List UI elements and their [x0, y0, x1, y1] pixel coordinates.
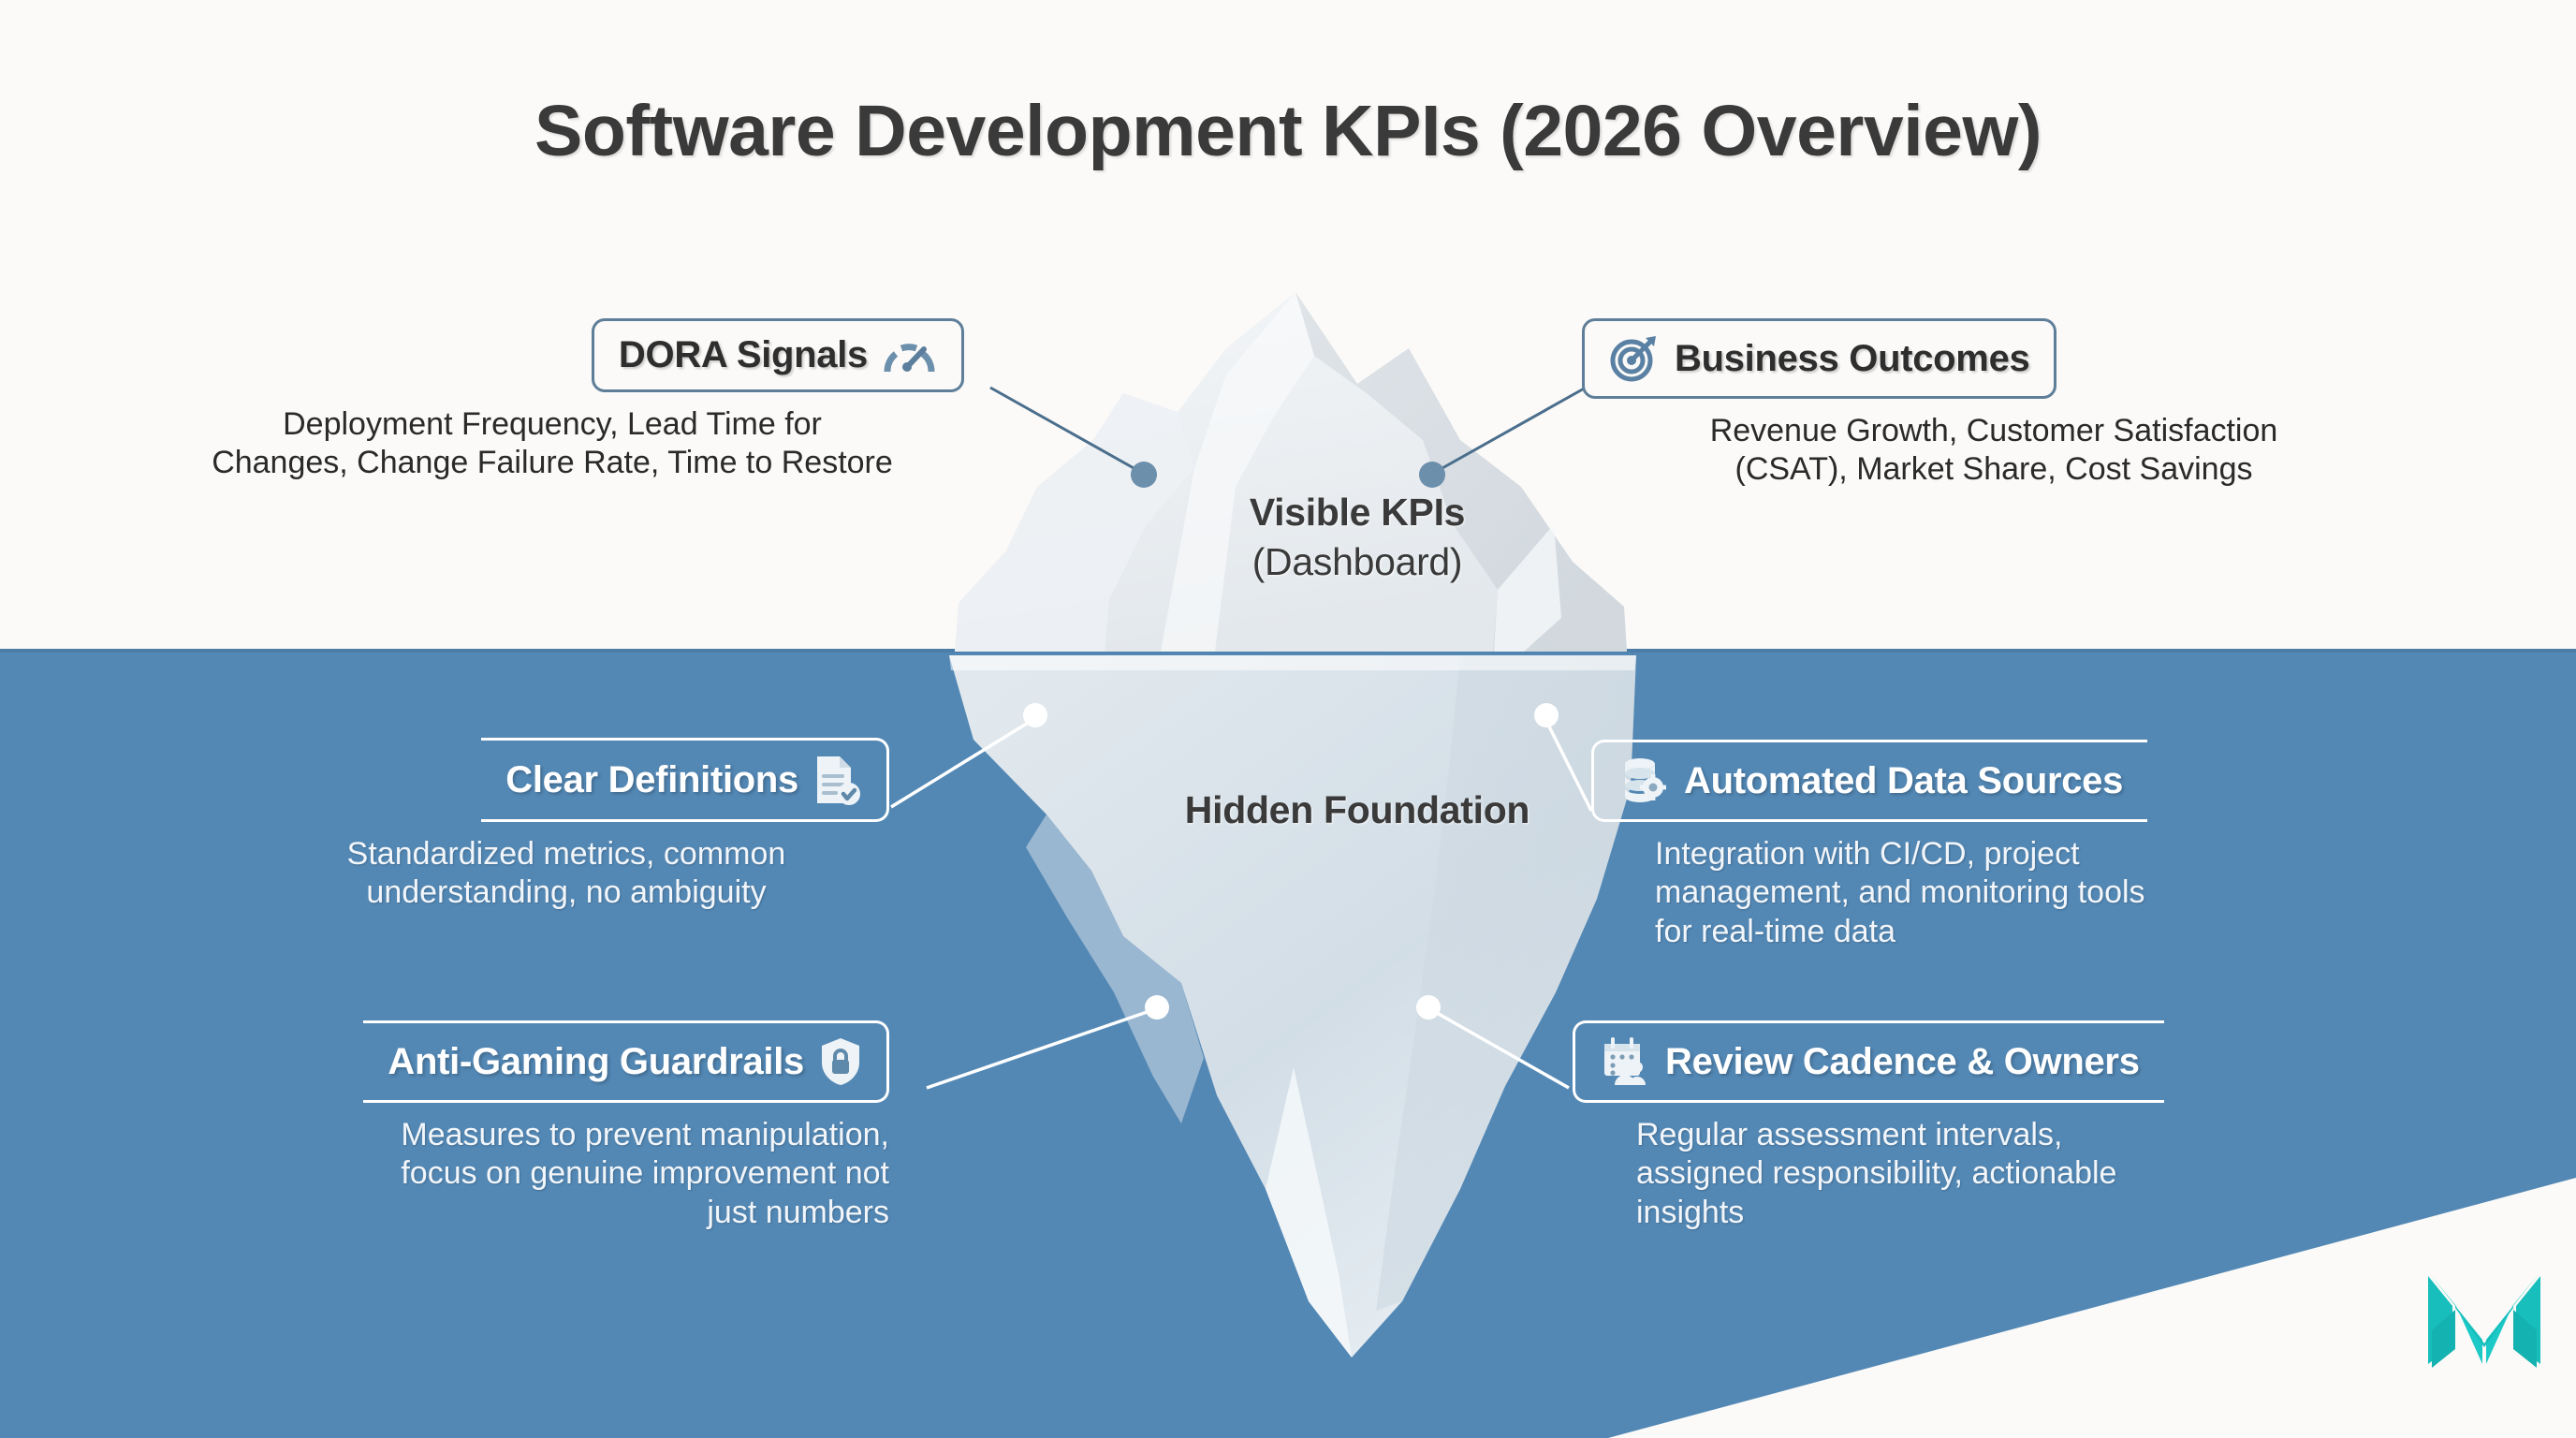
callout-business-description: Revenue Growth, Customer Satisfaction (C… [1582, 412, 2406, 490]
callout-clear-definitions-description-line: Standardized metrics, common [243, 835, 889, 873]
callout-automated-data-sources-description-line: for real-time data [1655, 913, 2321, 951]
iceberg-below-water [949, 655, 1636, 1357]
chip-review-cadence-owners[interactable]: Review Cadence & Owners [1573, 1020, 2164, 1103]
page-title: Software Development KPIs (2026 Overview… [0, 90, 2576, 173]
chip-clear-definitions[interactable]: Clear Definitions [481, 738, 889, 822]
chip-clear-definitions-label: Clear Definitions [505, 759, 798, 801]
callout-business-description-line: Revenue Growth, Customer Satisfaction [1582, 412, 2406, 450]
callout-dora-signals[interactable]: DORA Signals Deployment Frequency, Lead [140, 318, 964, 483]
connector-dot-automated [1534, 703, 1559, 727]
callout-dora-description: Deployment Frequency, Lead Time for Chan… [140, 405, 964, 483]
callout-automated-data-sources-description-line: management, and monitoring tools [1655, 873, 2321, 912]
callout-clear-definitions-description-line: understanding, no ambiguity [243, 873, 889, 912]
connector-dot-clear [1023, 703, 1047, 727]
chip-anti-gaming-guardrails-label: Anti-Gaming Guardrails [388, 1041, 804, 1083]
callout-clear-definitions[interactable]: Clear Definitions [243, 738, 889, 913]
shield-lock-icon [819, 1036, 862, 1087]
callout-dora-description-line: Changes, Change Failure Rate, Time to Re… [140, 444, 964, 482]
callout-anti-gaming-guardrails-description: Measures to prevent manipulation, focus … [281, 1116, 889, 1232]
infographic-canvas: Software Development KPIs (2026 Overview… [0, 0, 2576, 1438]
chip-dora-signals-label: DORA Signals [619, 334, 868, 376]
callout-dora-description-line: Deployment Frequency, Lead Time for [140, 405, 964, 444]
callout-review-cadence-owners-description-line: insights [1636, 1194, 2312, 1232]
chip-business-outcomes-label: Business Outcomes [1675, 338, 2029, 380]
visible-kpis-label: Visible KPIs (Dashboard) [1114, 491, 1601, 584]
callout-business-description-line: (CSAT), Market Share, Cost Savings [1582, 450, 2406, 489]
connector-business [1434, 388, 1586, 473]
chip-automated-data-sources-label: Automated Data Sources [1684, 760, 2123, 802]
database-gear-icon [1618, 756, 1669, 806]
callout-review-cadence-owners-description: Regular assessment intervals, assigned r… [1636, 1116, 2312, 1232]
iceberg-above-water [955, 292, 1627, 652]
callout-automated-data-sources[interactable]: Automated Data Sources Integration with … [1591, 740, 2321, 951]
chip-dora-signals[interactable]: DORA Signals [592, 318, 964, 392]
callout-business-outcomes[interactable]: Business Outcomes Revenue Growth, Custom… [1582, 318, 2406, 490]
chip-automated-data-sources[interactable]: Automated Data Sources [1591, 740, 2147, 822]
hidden-foundation-label: Hidden Foundation [1114, 788, 1601, 832]
iceberg-below-top-highlight [949, 655, 1636, 670]
callout-automated-data-sources-description: Integration with CI/CD, project manageme… [1655, 835, 2321, 951]
chip-business-outcomes[interactable]: Business Outcomes [1582, 318, 2056, 399]
callout-anti-gaming-guardrails[interactable]: Anti-Gaming Guardrails Measures to preve… [281, 1020, 889, 1232]
visible-kpis-label-line2: (Dashboard) [1114, 540, 1601, 584]
gauge-icon [883, 336, 937, 375]
callout-review-cadence-owners-description-line: assigned responsibility, actionable [1636, 1154, 2312, 1193]
chip-anti-gaming-guardrails[interactable]: Anti-Gaming Guardrails [363, 1020, 889, 1103]
connector-anti [927, 1009, 1155, 1088]
calendar-people-icon [1600, 1036, 1650, 1087]
m-logo [2424, 1259, 2546, 1386]
callout-clear-definitions-description: Standardized metrics, common understandi… [243, 835, 889, 913]
callout-review-cadence-owners[interactable]: Review Cadence & Owners Regular assessme… [1573, 1020, 2312, 1232]
callout-anti-gaming-guardrails-description-line: Measures to prevent manipulation, [281, 1116, 889, 1154]
callout-automated-data-sources-description-line: Integration with CI/CD, project [1655, 835, 2321, 873]
visible-kpis-label-line1: Visible KPIs [1114, 491, 1601, 535]
connector-dot-anti [1145, 995, 1169, 1020]
callout-review-cadence-owners-description-line: Regular assessment intervals, [1636, 1116, 2312, 1154]
document-check-icon [813, 754, 862, 806]
chip-review-cadence-owners-label: Review Cadence & Owners [1665, 1041, 2140, 1083]
connector-dot-business [1419, 462, 1445, 488]
callout-anti-gaming-guardrails-description-line: just numbers [281, 1194, 889, 1232]
connector-dot-review [1416, 995, 1441, 1020]
callout-anti-gaming-guardrails-description-line: focus on genuine improvement not [281, 1154, 889, 1193]
target-icon [1609, 334, 1660, 383]
connector-dot-dora [1131, 462, 1157, 488]
